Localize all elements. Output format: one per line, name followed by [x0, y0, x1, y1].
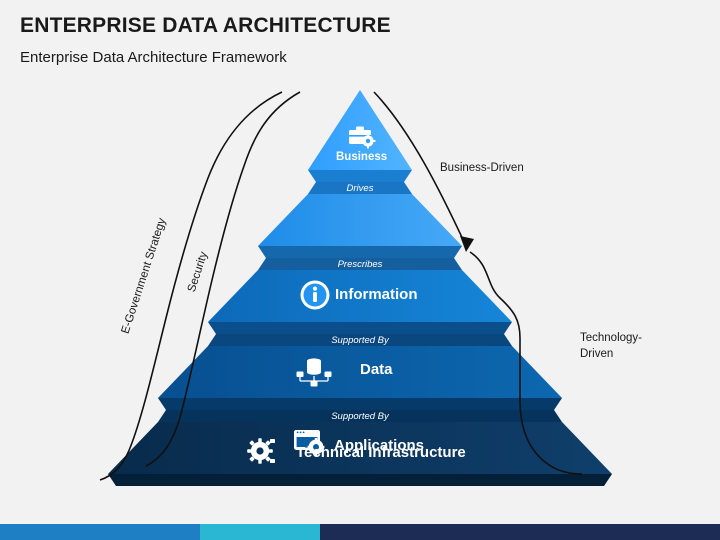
tier-label-technical-infrastructure: Technical Infrastructure [296, 444, 466, 461]
pyramid-diagram: Business Information Data Applications T… [0, 70, 720, 500]
slide: ENTERPRISE DATA ARCHITECTURE Enterprise … [0, 0, 720, 540]
annotation-technology-driven-line1: Technology- [580, 332, 642, 344]
annotation-technology-driven-line2: Driven [580, 348, 613, 360]
relation-label-drives: Drives [320, 183, 400, 194]
page-title: ENTERPRISE DATA ARCHITECTURE [20, 14, 391, 38]
page-subtitle: Enterprise Data Architecture Framework [20, 49, 287, 66]
footer-segment-dark [320, 524, 720, 540]
relation-label-prescribes: Prescribes [320, 259, 400, 270]
annotation-business-driven: Business-Driven [440, 162, 524, 174]
tier-label-information: Information [335, 286, 418, 303]
tier-label-data: Data [360, 361, 393, 378]
footer-segment-blue [0, 524, 200, 540]
tier-label-business: Business [336, 151, 387, 163]
pyramid-svg [0, 70, 720, 500]
relation-label-supported-by-2: Supported By [310, 411, 410, 422]
footer-bar [0, 524, 720, 540]
tier-information[interactable] [258, 194, 462, 258]
footer-segment-cyan [200, 524, 320, 540]
tier-applications[interactable] [158, 346, 562, 410]
relation-label-supported-by-1: Supported By [310, 335, 410, 346]
gear-network-icon [247, 438, 275, 464]
info-circle-icon [301, 281, 330, 310]
